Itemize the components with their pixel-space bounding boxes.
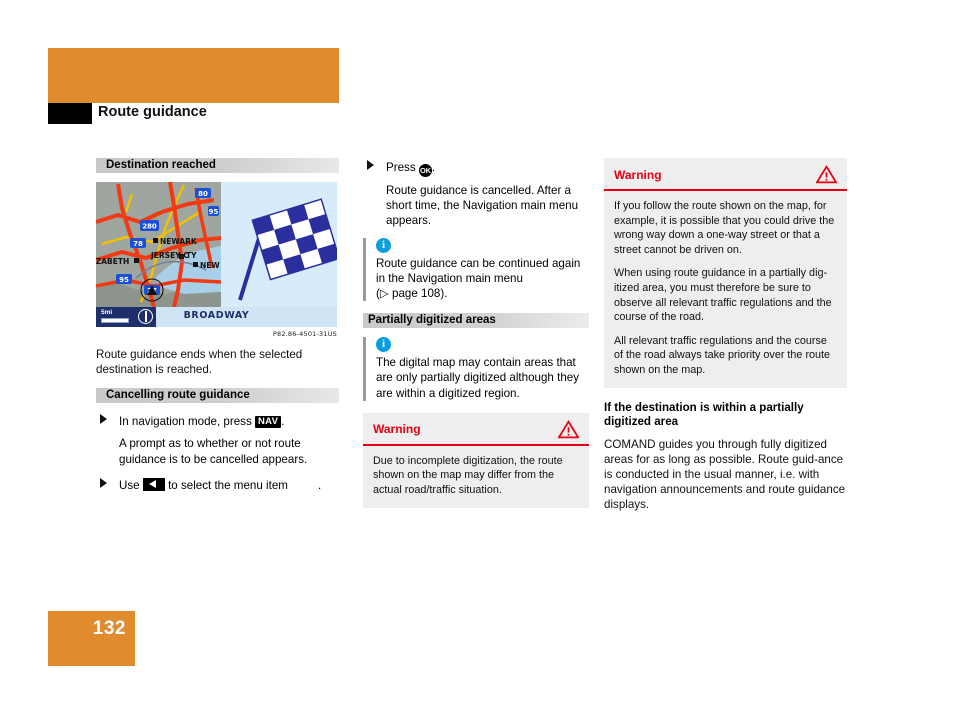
warning-box-one-way-street: Warning If you follow the route shown on… bbox=[604, 158, 847, 388]
svg-text:280: 280 bbox=[142, 223, 157, 231]
figure-image: 280 78 80 95 95 27 NEWARK JERSEY C TY bbox=[96, 182, 337, 327]
svg-text:NEWARK: NEWARK bbox=[160, 237, 198, 246]
page-number: 132 bbox=[93, 618, 126, 640]
chapter-title: Navigation* bbox=[50, 692, 131, 708]
step-result-text: Route guidance is cancelled. After a sho… bbox=[363, 183, 589, 229]
section-header-row: Route guidance bbox=[48, 103, 339, 127]
info-note-text: The digital map may contain areas that a… bbox=[376, 355, 589, 401]
step-text-trailing: . bbox=[318, 479, 321, 492]
svg-text:80: 80 bbox=[198, 190, 208, 198]
info-note-line-3: (▷ page 108). bbox=[376, 286, 589, 301]
warning-title: Warning bbox=[614, 168, 662, 182]
mid-section-bar-partially-digitized: Partially digitized areas bbox=[363, 313, 589, 328]
svg-text:TY: TY bbox=[186, 251, 197, 260]
svg-text:95: 95 bbox=[119, 276, 129, 284]
left-arrow-key-icon[interactable] bbox=[143, 478, 165, 491]
step-text-before: Press bbox=[386, 161, 419, 174]
right-body-text: COMAND guides you through fully digitize… bbox=[604, 437, 847, 513]
warning-triangle-icon bbox=[816, 165, 837, 184]
step-text-after: to select the menu item bbox=[165, 479, 288, 492]
svg-text:78: 78 bbox=[133, 240, 143, 248]
step-press-nav: In navigation mode, press NAV. bbox=[96, 412, 339, 430]
warning-title: Warning bbox=[373, 422, 421, 436]
black-marker-block bbox=[48, 103, 92, 124]
bullet-triangle-icon bbox=[100, 478, 107, 488]
left-column: Destination reached bbox=[96, 158, 339, 500]
warning-paragraph: All relevant traffic regulations and the… bbox=[614, 334, 837, 378]
step-text-before: Use bbox=[119, 479, 143, 492]
left-section-bar-cancelling: Cancelling route guidance bbox=[96, 388, 339, 403]
svg-text:IZABETH: IZABETH bbox=[96, 257, 129, 266]
step-note-prompt: A prompt as to whether or not route guid… bbox=[96, 436, 339, 466]
map-street-label: BROADWAY bbox=[96, 310, 337, 321]
flag-panel bbox=[221, 182, 337, 307]
left-section-bar-destination-reached: Destination reached bbox=[96, 158, 339, 173]
step-text: Press OK. bbox=[386, 161, 435, 174]
warning-header: Warning bbox=[604, 158, 847, 191]
step-text-after: . bbox=[281, 415, 284, 428]
warning-paragraph: Due to incomplete digitization, the rout… bbox=[373, 454, 579, 498]
info-note-partially-digitized: i The digital map may contain areas that… bbox=[363, 337, 589, 401]
info-icon: i bbox=[376, 337, 391, 352]
warning-triangle-icon bbox=[558, 420, 579, 439]
warning-box-digitization: Warning Due to incomplete digitization, … bbox=[363, 413, 589, 508]
step-press-ok: Press OK. bbox=[363, 158, 589, 177]
right-subheading: If the destination is within a partially… bbox=[604, 401, 847, 430]
ok-key-icon[interactable]: OK bbox=[419, 164, 432, 177]
nav-key-icon[interactable]: NAV bbox=[255, 416, 281, 428]
map-area: 280 78 80 95 95 27 NEWARK JERSEY C TY bbox=[96, 182, 221, 307]
map-status-strip: 5mi BROADWAY bbox=[96, 307, 337, 327]
map-roads-svg: 280 78 80 95 95 27 NEWARK JERSEY C TY bbox=[96, 182, 221, 307]
warning-body: If you follow the route shown on the map… bbox=[604, 191, 847, 388]
svg-text:95: 95 bbox=[209, 208, 219, 216]
warning-paragraph: When using route guidance in a partially… bbox=[614, 266, 837, 324]
info-note-line-2: in the Navigation main menu bbox=[376, 271, 589, 286]
right-column: Warning If you follow the route shown on… bbox=[604, 158, 847, 524]
bullet-triangle-icon bbox=[367, 160, 374, 170]
info-note-line-1: Route guidance can be continued again bbox=[376, 256, 589, 271]
middle-column: Press OK. Route guidance is cancelled. A… bbox=[363, 158, 589, 521]
left-body-text: Route guidance ends when the selected de… bbox=[96, 347, 339, 377]
figure-caption: P82.86-4501-31US bbox=[96, 330, 337, 338]
info-note-continue-guidance: i Route guidance can be continued again … bbox=[363, 238, 589, 302]
figure-destination-reached: 280 78 80 95 95 27 NEWARK JERSEY C TY bbox=[96, 182, 337, 338]
step-text: In navigation mode, press NAV. bbox=[119, 415, 284, 428]
info-icon: i bbox=[376, 238, 391, 253]
warning-paragraph: If you follow the route shown on the map… bbox=[614, 199, 837, 257]
bullet-triangle-icon bbox=[100, 414, 107, 424]
page-number-block: 132 bbox=[48, 611, 135, 666]
svg-text:NEW: NEW bbox=[200, 261, 220, 270]
section-title: Route guidance bbox=[98, 104, 207, 120]
chapter-header-band bbox=[48, 48, 339, 103]
step-text-before: In navigation mode, press bbox=[119, 415, 255, 428]
step-use-left-arrow: Use to select the menu item. bbox=[96, 476, 339, 494]
checkered-flag-icon bbox=[221, 182, 337, 307]
warning-header: Warning bbox=[363, 413, 589, 446]
warning-body: Due to incomplete digitization, the rout… bbox=[363, 446, 589, 508]
step-text-after: . bbox=[432, 161, 435, 174]
step-text: Use to select the menu item. bbox=[119, 479, 321, 492]
